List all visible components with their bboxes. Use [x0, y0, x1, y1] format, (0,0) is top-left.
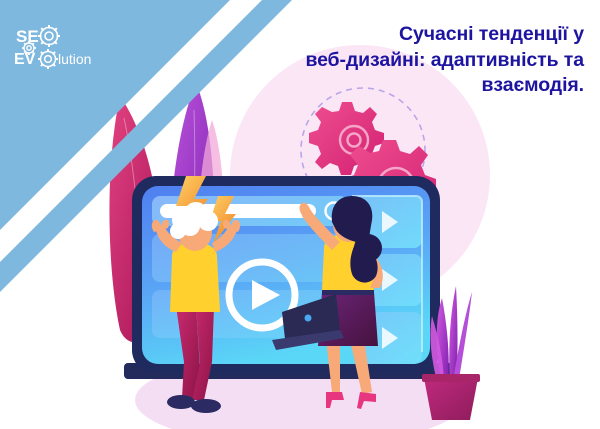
shoe-left: [167, 395, 195, 409]
page-title: Сучасні тенденції у веб-дизайні: адаптив…: [204, 22, 584, 99]
plant-pot: [424, 378, 478, 420]
poster-canvas: SE: [0, 0, 600, 429]
shoe-right: [191, 399, 221, 413]
shirt: [170, 242, 220, 312]
plant-pot-rim: [422, 374, 480, 382]
